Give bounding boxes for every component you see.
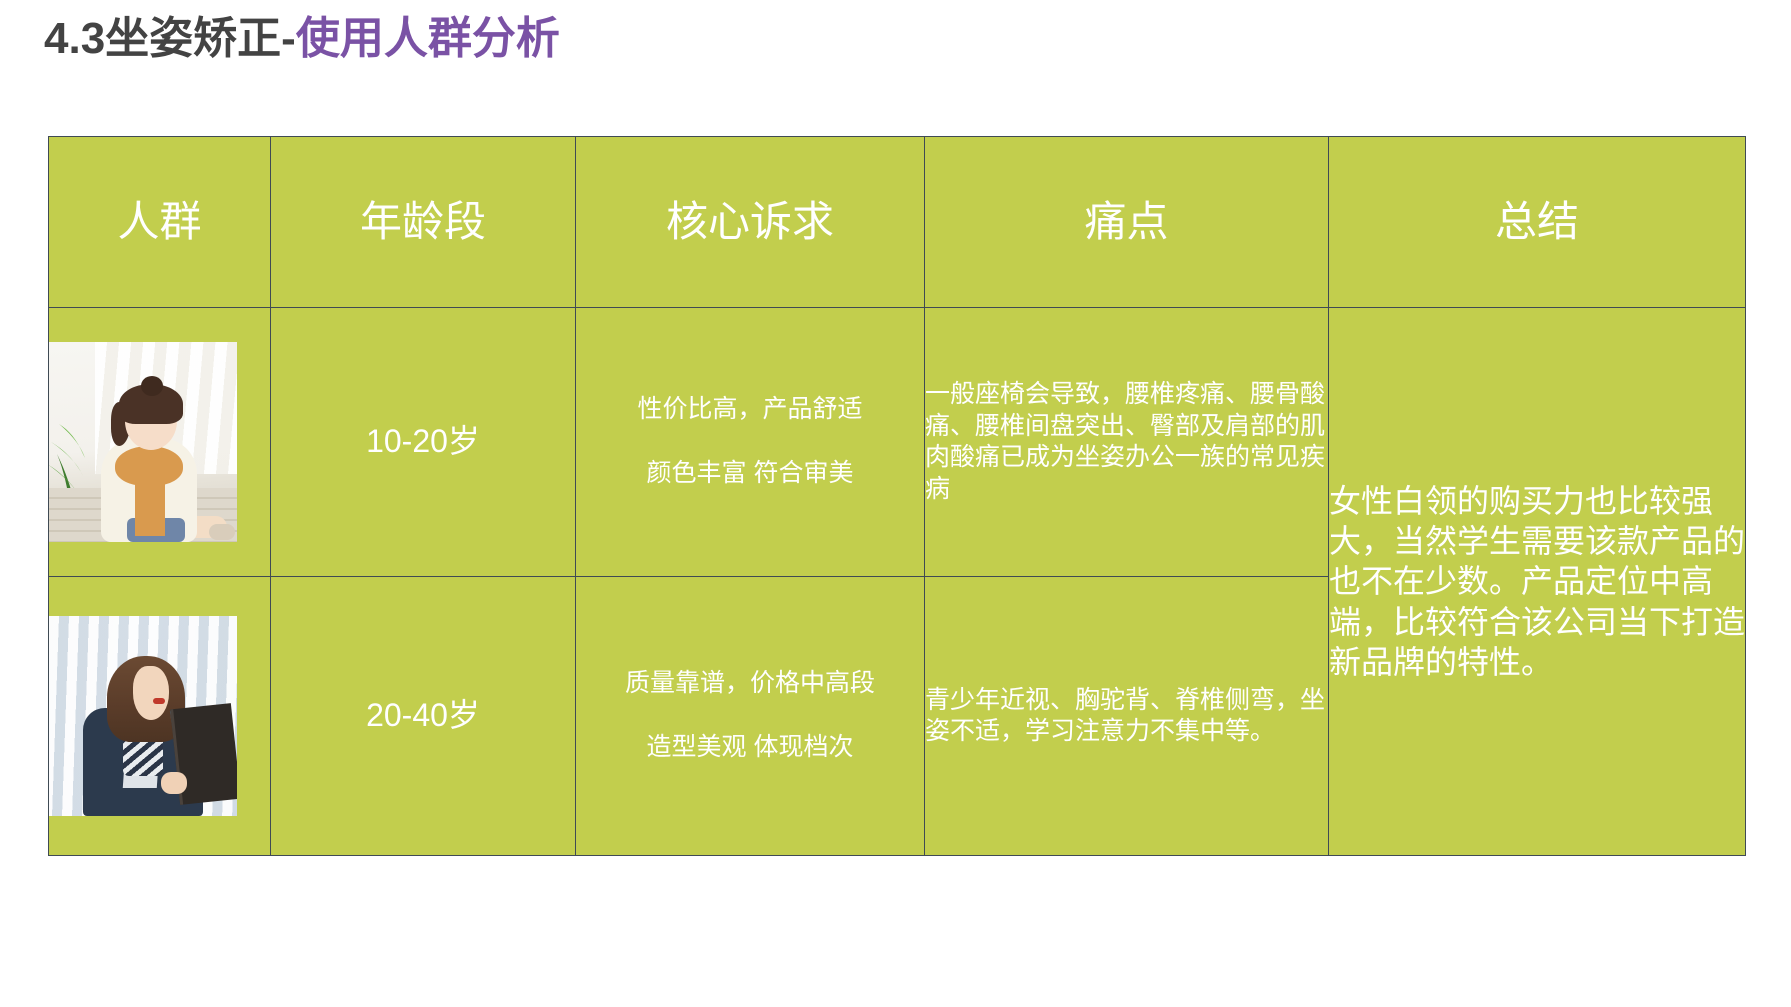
table-row: 10-20岁 性价比高，产品舒适 颜色丰富 符合审美 一般座椅会导致，腰椎疼痛、… [49,308,1746,577]
summary-cell: 女性白领的购买力也比较强大，当然学生需要该款产品的也不在少数。产品定位中高端，比… [1329,308,1746,856]
girl-ruffle-collar [115,446,183,486]
column-header-pain-point: 痛点 [925,137,1329,308]
girl-hair-bun [141,376,163,396]
column-header-person: 人群 [49,137,271,308]
core-demand-line-2: 造型美观 体现档次 [576,731,924,765]
core-demand-line-2: 颜色丰富 符合审美 [576,457,924,491]
pain-point-cell-2: 青少年近视、胸驼背、脊椎侧弯，坐姿不适，学习注意力不集中等。 [925,577,1329,856]
girl-inner-top [135,480,165,536]
age-range-cell-1: 10-20岁 [271,308,576,577]
core-demand-cell-1: 性价比高，产品舒适 颜色丰富 符合审美 [576,308,925,577]
person-photo-cell-1 [49,308,271,577]
woman-lips [153,698,165,704]
table-header-row: 人群 年龄段 核心诉求 痛点 总结 [49,137,1746,308]
person-photo-cell-2 [49,577,271,856]
column-header-summary: 总结 [1329,137,1746,308]
audience-analysis-table: 人群 年龄段 核心诉求 痛点 总结 [48,136,1746,856]
woman-hand [161,772,187,794]
business-woman-photo [49,616,237,816]
pain-point-cell-1: 一般座椅会导致，腰椎疼痛、腰骨酸痛、腰椎间盘突出、臀部及肩部的肌肉酸痛已成为坐姿… [925,308,1329,577]
woman-face [133,666,169,720]
core-demand-cell-2: 质量靠谱，价格中高段 造型美观 体现档次 [576,577,925,856]
page-title-sub: 使用人群分析 [296,14,560,63]
page-title: 4.3坐姿矫正-使用人群分析 [44,14,560,65]
page-title-main: 4.3坐姿矫正- [44,14,296,63]
girl-photo [49,342,237,542]
girl-shoe [209,524,235,540]
column-header-age: 年龄段 [271,137,576,308]
age-range-cell-2: 20-40岁 [271,577,576,856]
core-demand-line-1: 性价比高，产品舒适 [576,393,924,427]
core-demand-line-1: 质量靠谱，价格中高段 [576,667,924,701]
column-header-core-demand: 核心诉求 [576,137,925,308]
